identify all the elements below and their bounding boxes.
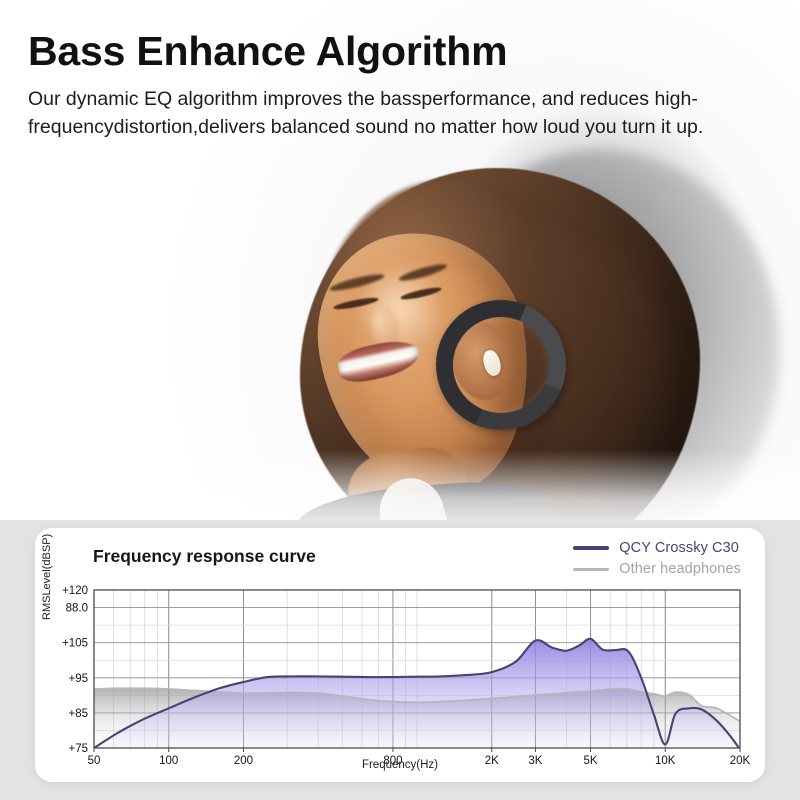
chart-plot-area: 501002008002K3K5K10K20K+12088.0+105+95+8… [35,528,765,782]
page-subtitle: Our dynamic EQ algorithm improves the ba… [28,86,756,141]
page-title: Bass Enhance Algorithm [28,30,768,73]
svg-text:+105: +105 [62,638,88,650]
svg-text:+75: +75 [68,743,88,755]
chart-x-axis-title: Frequency(Hz) [35,759,765,771]
svg-text:88.0: 88.0 [66,603,88,615]
frequency-response-svg: 501002008002K3K5K10K20K+12088.0+105+95+8… [35,528,765,782]
svg-text:+120: +120 [62,585,88,597]
svg-text:+95: +95 [68,673,88,685]
product-page: Bass Enhance Algorithm Our dynamic EQ al… [0,0,800,800]
svg-text:+85: +85 [68,708,88,720]
hero-image [0,0,800,540]
frequency-response-card: Frequency response curve QCY Crossky C30… [35,528,765,782]
chart-y-axis-title: RMSLevel(dBSP) [41,534,53,620]
